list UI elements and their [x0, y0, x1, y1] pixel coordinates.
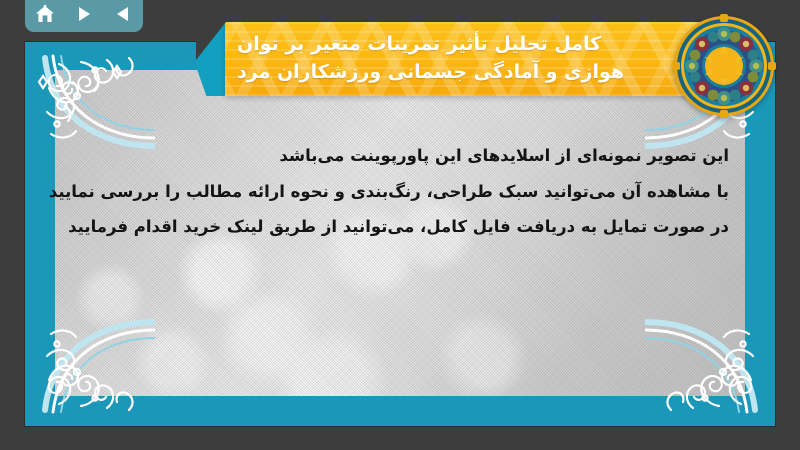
body-line: با مشاهده آن می‌توانید سبک طراحی، رنگ‌بن… — [71, 174, 729, 210]
home-icon — [34, 4, 56, 24]
prev-slide-button[interactable] — [109, 1, 137, 27]
home-button[interactable] — [31, 1, 59, 27]
slide-viewer: این تصویر نمونه‌ای از اسلایدهای این پاور… — [0, 0, 800, 450]
slide-body-text: این تصویر نمونه‌ای از اسلایدهای این پاور… — [71, 138, 729, 245]
slide-frame: این تصویر نمونه‌ای از اسلایدهای این پاور… — [25, 42, 775, 426]
title-line: هوازی و آمادگی جسمانی ورزشکاران مرد — [237, 59, 624, 87]
next-slide-button[interactable] — [70, 1, 98, 27]
triangle-right-icon — [74, 4, 94, 24]
body-line: در صورت تمایل به دریافت فایل کامل، می‌تو… — [71, 209, 729, 245]
triangle-left-icon — [113, 4, 133, 24]
slide-title-banner: کامل تحلیل تأثیر تمرینات متغیر بر توان ه… — [225, 22, 745, 96]
title-line: کامل تحلیل تأثیر تمرینات متغیر بر توان — [237, 31, 601, 59]
body-line: این تصویر نمونه‌ای از اسلایدهای این پاور… — [71, 138, 729, 174]
navigation-bar — [25, 0, 143, 32]
page-title: کامل تحلیل تأثیر تمرینات متغیر بر توان ه… — [225, 22, 745, 96]
persian-medallion-icon — [672, 14, 776, 118]
